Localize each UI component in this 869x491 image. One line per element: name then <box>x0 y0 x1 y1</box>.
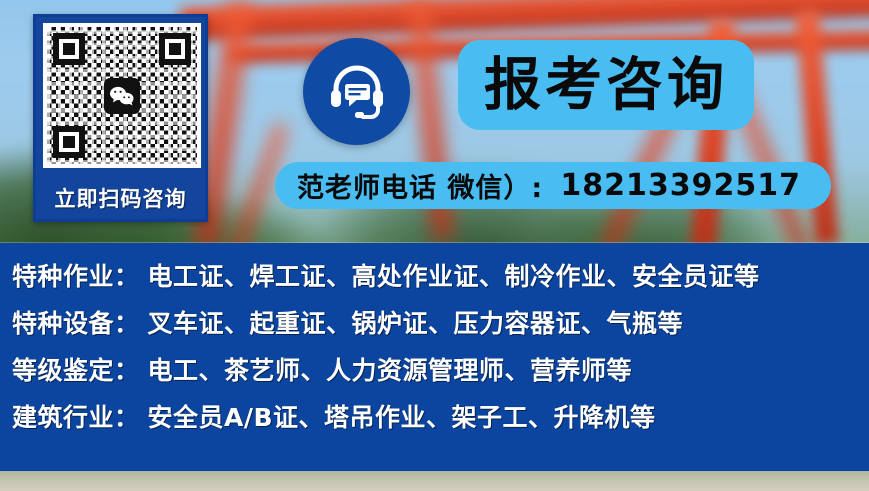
bottom-photo-strip <box>0 471 869 491</box>
info-row-value: 安全员A/B证、塔吊作业、架子工、升降机等 <box>140 398 656 434</box>
contact-phone-bar[interactable]: 范老师电话 微信）: 18213392517 <box>275 162 831 209</box>
info-row-label: 特种设备： <box>8 304 140 340</box>
info-row: 特种作业： 电工证、焊工证、高处作业证、制冷作业、安全员证等 <box>8 257 869 304</box>
info-row: 建筑行业： 安全员A/B证、塔吊作业、架子工、升降机等 <box>8 398 869 445</box>
info-row: 等级鉴定： 电工、茶艺师、人力资源管理师、营养师等 <box>8 351 869 398</box>
advertisement-banner: 立即扫码咨询 报考咨询 范老师电话 微信）: 18213392517 特种作业：… <box>0 0 869 491</box>
contact-phone-number: 18213392517 <box>560 168 809 203</box>
certificate-info-list: 特种作业： 电工证、焊工证、高处作业证、制冷作业、安全员证等 特种设备： 叉车证… <box>0 243 869 445</box>
info-row-label: 建筑行业： <box>8 398 140 434</box>
qr-code-label: 立即扫码咨询 <box>36 183 205 213</box>
info-row-value: 电工证、焊工证、高处作业证、制冷作业、安全员证等 <box>140 257 760 293</box>
qr-finder-top-right <box>159 33 191 65</box>
qr-code-card[interactable]: 立即扫码咨询 <box>33 14 208 222</box>
qr-finder-bottom-left <box>53 126 85 158</box>
info-row-label: 特种作业： <box>8 257 140 293</box>
title-badge-text: 报考咨询 <box>484 57 728 114</box>
qr-code-matrix <box>47 27 197 164</box>
headset-support-icon <box>303 38 410 145</box>
qr-code-image <box>43 23 201 168</box>
info-row-value: 叉车证、起重证、锅炉证、压力容器证、气瓶等 <box>140 304 684 340</box>
certificate-info-panel: 特种作业： 电工证、焊工证、高处作业证、制冷作业、安全员证等 特种设备： 叉车证… <box>0 243 869 471</box>
contact-label: 范老师电话 微信）: <box>297 166 543 205</box>
bottom-photo-strip-image <box>0 471 869 491</box>
info-row-label: 等级鉴定： <box>8 351 140 387</box>
qr-finder-top-left <box>53 33 85 65</box>
info-row-value: 电工、茶艺师、人力资源管理师、营养师等 <box>140 351 633 387</box>
wechat-icon <box>104 78 140 114</box>
info-row: 特种设备： 叉车证、起重证、锅炉证、压力容器证、气瓶等 <box>8 304 869 351</box>
title-badge: 报考咨询 <box>458 40 754 130</box>
